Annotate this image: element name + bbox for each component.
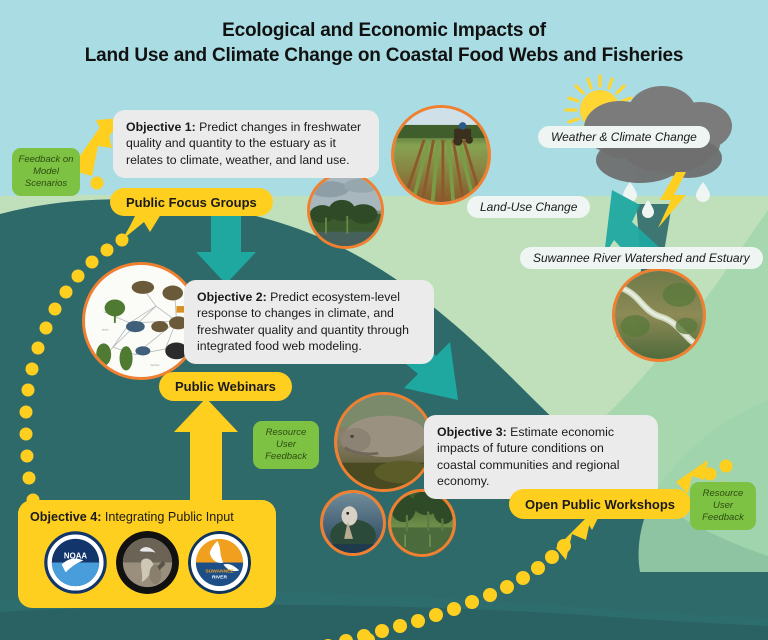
- photo-pelican: [320, 490, 386, 556]
- srwmd-logo: SUWANNEE RIVER: [188, 531, 251, 594]
- watershed-estuary-text: Suwannee River Watershed and Estuary: [533, 251, 750, 265]
- photo-cypress-swamp: [388, 489, 456, 557]
- objective-4-text: Integrating Public Input: [101, 510, 233, 524]
- agency-logo-group: NOAA: [30, 531, 264, 594]
- objective-4-card: Objective 4: Integrating Public Input NO…: [18, 500, 276, 608]
- land-use-change-label: Land-Use Change: [467, 196, 590, 218]
- resource-user-feedback-label-1: Resource User Feedback: [258, 427, 314, 463]
- photo-agriculture-field: [391, 105, 491, 205]
- land-use-change-text: Land-Use Change: [480, 200, 577, 214]
- weather-climate-change-label: Weather & Climate Change: [538, 126, 710, 148]
- feedback-model-scenarios-label: Feedback on Model Scenarios: [17, 154, 75, 190]
- public-webinars-banner[interactable]: Public Webinars: [159, 372, 292, 401]
- title-line-1: Ecological and Economic Impacts of: [0, 18, 768, 43]
- svg-text:SUWANNEE: SUWANNEE: [205, 568, 234, 574]
- fwc-logo: [116, 531, 179, 594]
- infographic-canvas: Ecological and Economic Impacts of Land …: [0, 0, 768, 640]
- resource-user-feedback-box-1: Resource User Feedback: [253, 421, 319, 469]
- objective-1-label: Objective 1:: [126, 120, 196, 134]
- svg-text:RIVER: RIVER: [212, 574, 227, 580]
- feedback-model-scenarios-box: Feedback on Model Scenarios: [12, 148, 80, 196]
- svg-text:phyto: phyto: [102, 327, 109, 331]
- objective-1-card: Objective 1: Predict changes in freshwat…: [113, 110, 379, 178]
- photo-estuary-aerial: [612, 268, 706, 362]
- svg-text:detritus: detritus: [150, 363, 160, 367]
- photo-manatee: [334, 392, 434, 492]
- watershed-estuary-label: Suwannee River Watershed and Estuary: [520, 247, 763, 269]
- resource-user-feedback-box-2: Resource User Feedback: [690, 482, 756, 530]
- objective-4-label: Objective 4:: [30, 510, 101, 524]
- noaa-logo: NOAA: [44, 531, 107, 594]
- objective-4-title: Objective 4: Integrating Public Input: [30, 510, 264, 525]
- public-focus-groups-label: Public Focus Groups: [126, 195, 257, 210]
- page-title: Ecological and Economic Impacts of Land …: [0, 18, 768, 68]
- open-public-workshops-banner[interactable]: Open Public Workshops: [509, 489, 691, 519]
- objective-3-label: Objective 3:: [437, 425, 507, 439]
- svg-text:NOAA: NOAA: [63, 552, 86, 561]
- resource-user-feedback-label-2: Resource User Feedback: [695, 488, 751, 524]
- open-public-workshops-label: Open Public Workshops: [525, 497, 675, 512]
- weather-climate-change-text: Weather & Climate Change: [551, 130, 697, 144]
- public-webinars-label: Public Webinars: [175, 379, 276, 394]
- objective-2-card: Objective 2: Predict ecosystem-level res…: [184, 280, 434, 364]
- public-focus-groups-banner[interactable]: Public Focus Groups: [110, 188, 273, 216]
- objective-2-label: Objective 2:: [197, 290, 267, 304]
- objective-3-card: Objective 3: Estimate economic impacts o…: [424, 415, 658, 499]
- title-line-2: Land Use and Climate Change on Coastal F…: [0, 43, 768, 68]
- photo-coastal-forest: [307, 172, 384, 249]
- photo-food-web-diagram: phytodetritus: [82, 262, 200, 380]
